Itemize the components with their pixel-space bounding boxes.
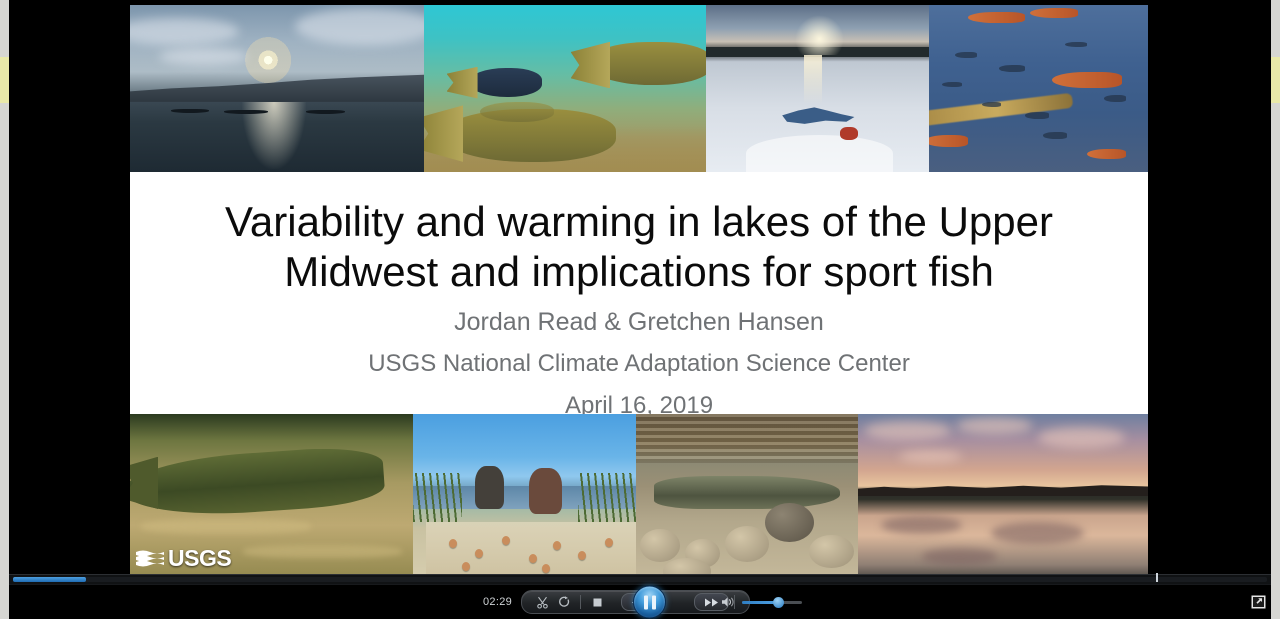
fast-forward-icon [704,598,719,607]
loop-button[interactable] [553,593,575,611]
usgs-wave-icon [136,549,164,568]
photo-sunset-lake-boats [130,5,424,172]
seek-track[interactable] [13,577,1267,582]
volume-knob[interactable] [773,597,784,608]
right-rail-marker [1271,57,1280,103]
photo-lake-sunset-reflection [858,414,1148,576]
transport-divider-2 [613,595,616,609]
usgs-logo: USGS [136,547,231,570]
fullscreen-button[interactable] [1251,595,1266,609]
right-rail [1271,0,1280,619]
photo-frozen-lake-person [706,5,929,172]
slide-authors: Jordan Read & Gretchen Hansen [454,308,824,337]
video-stage[interactable]: Variability and warming in lakes of the … [9,0,1271,576]
stop-icon [592,597,603,608]
usgs-wordmark: USGS [168,547,231,570]
time-display: 02:29 [483,596,512,608]
photo-school-of-fish [929,5,1148,172]
transport-divider [580,595,581,609]
photo-walleye-on-sand: USGS [130,414,413,576]
photo-pike-over-rocks [636,414,858,576]
fullscreen-icon [1251,595,1266,609]
top-photo-strip [130,5,1148,172]
cut-button[interactable] [531,593,553,611]
page-title: Variability and warming in lakes of the … [209,197,1069,296]
photo-underwater-bass [424,5,706,172]
slide-text-block: Variability and warming in lakes of the … [130,172,1148,414]
seek-chapter-marker[interactable] [1156,573,1158,582]
presentation-slide: Variability and warming in lakes of the … [130,5,1148,576]
seek-progress [13,577,86,582]
volume-fill [742,601,777,604]
stop-button[interactable] [586,593,608,611]
volume-controls [721,596,802,608]
volume-icon [721,596,735,608]
loop-icon [558,596,571,609]
volume-slider[interactable] [742,597,802,608]
player-control-bar: 02:29 [9,585,1271,619]
left-rail [0,0,9,619]
pause-icon [644,595,656,609]
seek-bar[interactable] [9,574,1271,585]
slide-organization: USGS National Climate Adaptation Science… [368,350,910,378]
pause-button[interactable] [633,586,666,619]
volume-button[interactable] [721,596,735,608]
bottom-photo-strip: USGS [130,414,1148,576]
video-window: Variability and warming in lakes of the … [0,0,1280,619]
left-rail-marker [0,57,9,103]
cut-icon [536,596,549,609]
photo-researchers-netting [413,414,636,576]
